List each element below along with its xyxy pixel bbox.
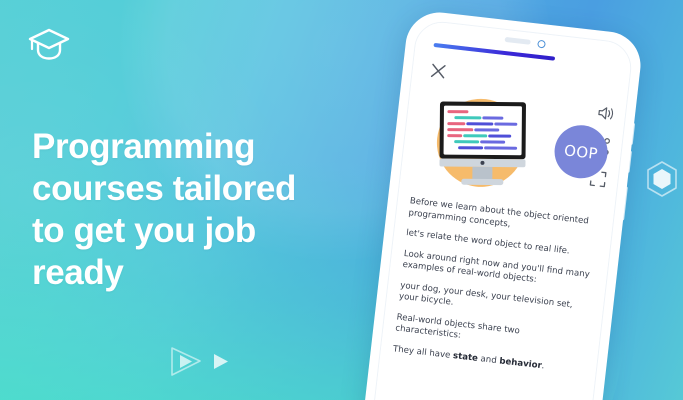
lesson-keyword-state: state: [453, 351, 479, 364]
phone-volume-down-button[interactable]: [627, 151, 632, 173]
speaker-grille-icon: [504, 37, 530, 45]
phone-volume-up-button[interactable]: [630, 123, 635, 145]
promo-banner: Programming courses tailored to get you …: [0, 0, 683, 400]
headline-line-3: to get you job: [32, 210, 382, 252]
lesson-final-mid: and: [477, 353, 500, 365]
lesson-text: Before we learn about the object oriente…: [391, 196, 601, 386]
front-camera-icon: [537, 39, 546, 48]
headline-line-4: ready: [32, 252, 382, 294]
lesson-keyword-behavior: behavior: [499, 356, 542, 371]
headline-line-2: courses tailored: [32, 168, 382, 210]
play-triangle-outline-icon: [172, 348, 200, 375]
lesson-final-suffix: .: [541, 361, 545, 371]
phone-mockup: OOP Before we learn about the object ori…: [361, 9, 644, 400]
app-screen: OOP Before we learn about the object ori…: [372, 20, 633, 400]
volume-speaker-icon[interactable]: [595, 103, 616, 124]
desktop-monitor-code-illustration: [413, 81, 549, 204]
phone-bezel: OOP Before we learn about the object ori…: [371, 19, 634, 400]
close-icon[interactable]: [429, 62, 448, 81]
lesson-final-prefix: They all have: [392, 344, 453, 361]
graduation-cap-icon: [27, 26, 69, 60]
phone-frame: OOP Before we learn about the object ori…: [361, 9, 644, 400]
page-title: Programming courses tailored to get you …: [32, 126, 382, 294]
phone-power-button[interactable]: [621, 186, 628, 220]
play-triangle-solid-icon: [214, 354, 228, 369]
hexagon-outline-icon: [645, 160, 679, 198]
headline-line-1: Programming: [32, 126, 382, 168]
play-decoration-group: [168, 342, 248, 382]
